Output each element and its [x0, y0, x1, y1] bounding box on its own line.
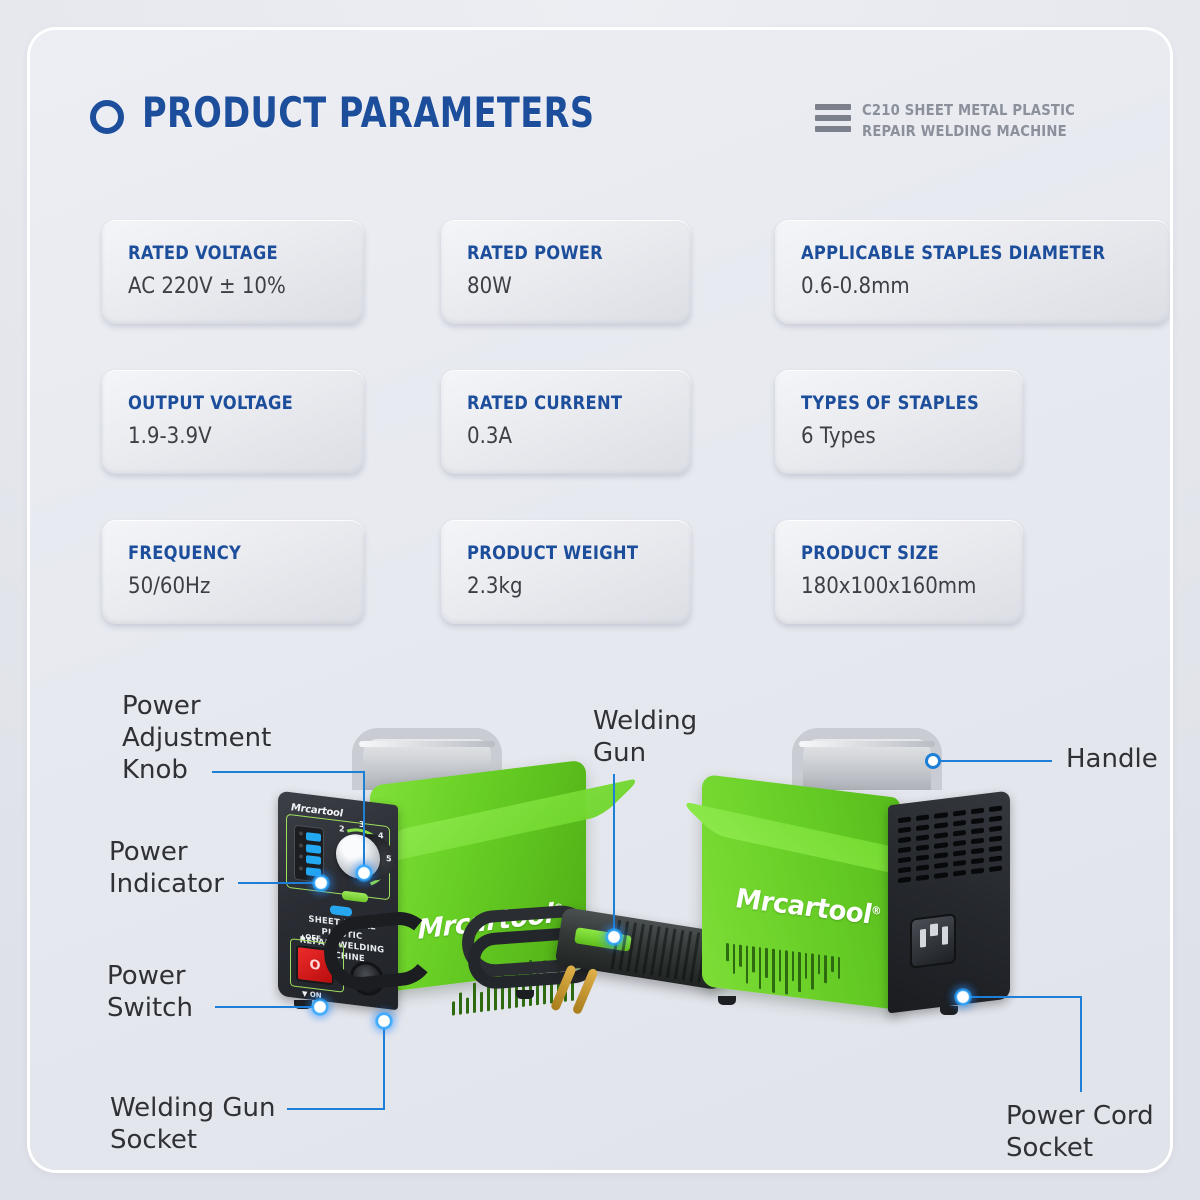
spec-value: 50/60Hz: [128, 574, 317, 599]
machine-foot: [718, 996, 736, 1005]
spec-key: OUTPUT VOLTAGE: [128, 392, 309, 414]
back-panel: [888, 791, 1010, 1014]
callout-label-power-indicator: Power Indicator: [109, 836, 309, 900]
circle-outline-icon: [90, 100, 124, 134]
callout-dot: [312, 874, 330, 892]
spec-value: 0.6-0.8mm: [801, 274, 1110, 299]
callout-line: [363, 771, 365, 872]
header: PRODUCT PARAMETERS C210 SHEET METAL PLAS…: [90, 86, 1122, 156]
header-subtitle: C210 SHEET METAL PLASTIC REPAIR WELDING …: [862, 100, 1075, 142]
spec-card: TYPES OF STAPLES 6 Types: [775, 370, 1023, 474]
power-switch-symbol: O: [309, 957, 320, 973]
callout-line: [383, 1020, 385, 1110]
knob-number: 4: [378, 831, 384, 841]
spec-card: RATED CURRENT 0.3A: [441, 370, 691, 474]
callout-dot: [605, 928, 623, 946]
callout-line: [287, 1108, 385, 1110]
handle: [792, 728, 942, 790]
callout-dot: [954, 988, 972, 1006]
callout-label-welding-gun: Welding Gun: [593, 705, 773, 769]
infographic-page: PRODUCT PARAMETERS C210 SHEET METAL PLAS…: [0, 0, 1200, 1200]
power-cord-socket[interactable]: [910, 913, 956, 969]
registered-mark: ®: [871, 904, 881, 918]
header-subtitle-line2: REPAIR WELDING MACHINE: [862, 121, 1075, 142]
panel-green-tag: [342, 890, 368, 902]
header-subtitle-line1: C210 SHEET METAL PLASTIC: [862, 100, 1075, 121]
spec-card: RATED POWER 80W: [441, 220, 691, 324]
spec-value: 2.3kg: [467, 574, 645, 599]
welding-gun: [462, 898, 732, 1028]
spec-key: PRODUCT WEIGHT: [467, 542, 637, 564]
spec-value: 80W: [467, 274, 645, 299]
content-panel: PRODUCT PARAMETERS C210 SHEET METAL PLAS…: [30, 30, 1170, 1170]
callout-line: [215, 1006, 319, 1008]
spec-card: OUTPUT VOLTAGE 1.9-3.9V: [102, 370, 364, 474]
spec-key: PRODUCT SIZE: [801, 542, 970, 564]
spec-key: FREQUENCY: [128, 542, 309, 564]
spec-key: RATED CURRENT: [467, 392, 637, 414]
product-diagram: Mrcartool® Mrcartool 2 3 4: [30, 630, 1170, 1170]
page-title: PRODUCT PARAMETERS: [142, 88, 594, 137]
spec-key: RATED POWER: [467, 242, 637, 264]
ventilation-grille: [898, 805, 1002, 896]
callout-line: [940, 760, 1052, 762]
callout-dot: [925, 753, 941, 769]
callout-line: [613, 774, 615, 937]
callout-label-power-cord-socket: Power Cord Socket: [1006, 1100, 1170, 1164]
spec-card: PRODUCT WEIGHT 2.3kg: [441, 520, 691, 624]
spec-key: RATED VOLTAGE: [128, 242, 309, 264]
callout-dot: [311, 998, 329, 1016]
header-product-tag: C210 SHEET METAL PLASTIC REPAIR WELDING …: [815, 100, 1104, 142]
callout-line: [962, 996, 1082, 998]
spec-value: 0.3A: [467, 424, 645, 449]
callout-label-welding-gun-socket: Welding Gun Socket: [110, 1092, 340, 1156]
gun-electrode-tips: [550, 963, 628, 1029]
spec-value: 1.9-3.9V: [128, 424, 317, 449]
machine-back-view: Mrcartool®: [702, 738, 1022, 1038]
spec-card: APPLICABLE STAPLES DIAMETER 0.6-0.8mm: [775, 220, 1170, 324]
callout-line: [238, 882, 320, 884]
spec-key: TYPES OF STAPLES: [801, 392, 970, 414]
menu-bars-icon: [815, 100, 851, 132]
machine-foot: [940, 1006, 958, 1015]
callout-label-handle: Handle: [1066, 743, 1170, 775]
knob-number: 2: [339, 824, 345, 834]
machine-body-top: [356, 777, 642, 869]
callout-label-power-switch: Power Switch: [107, 960, 307, 1024]
knob-number: 5: [386, 854, 392, 864]
callout-dot: [375, 1012, 393, 1030]
callout-dot: [355, 864, 373, 882]
spec-value: 180x100x160mm: [801, 574, 977, 599]
spec-card: PRODUCT SIZE 180x100x160mm: [775, 520, 1023, 624]
callout-line: [212, 771, 364, 773]
callout-line: [1080, 996, 1082, 1092]
spec-card: FREQUENCY 50/60Hz: [102, 520, 364, 624]
spec-key: APPLICABLE STAPLES DIAMETER: [801, 242, 1096, 264]
model-badge: [330, 905, 352, 917]
spec-value: 6 Types: [801, 424, 977, 449]
spec-value: AC 220V ± 10%: [128, 274, 317, 299]
spec-card: RATED VOLTAGE AC 220V ± 10%: [102, 220, 364, 324]
